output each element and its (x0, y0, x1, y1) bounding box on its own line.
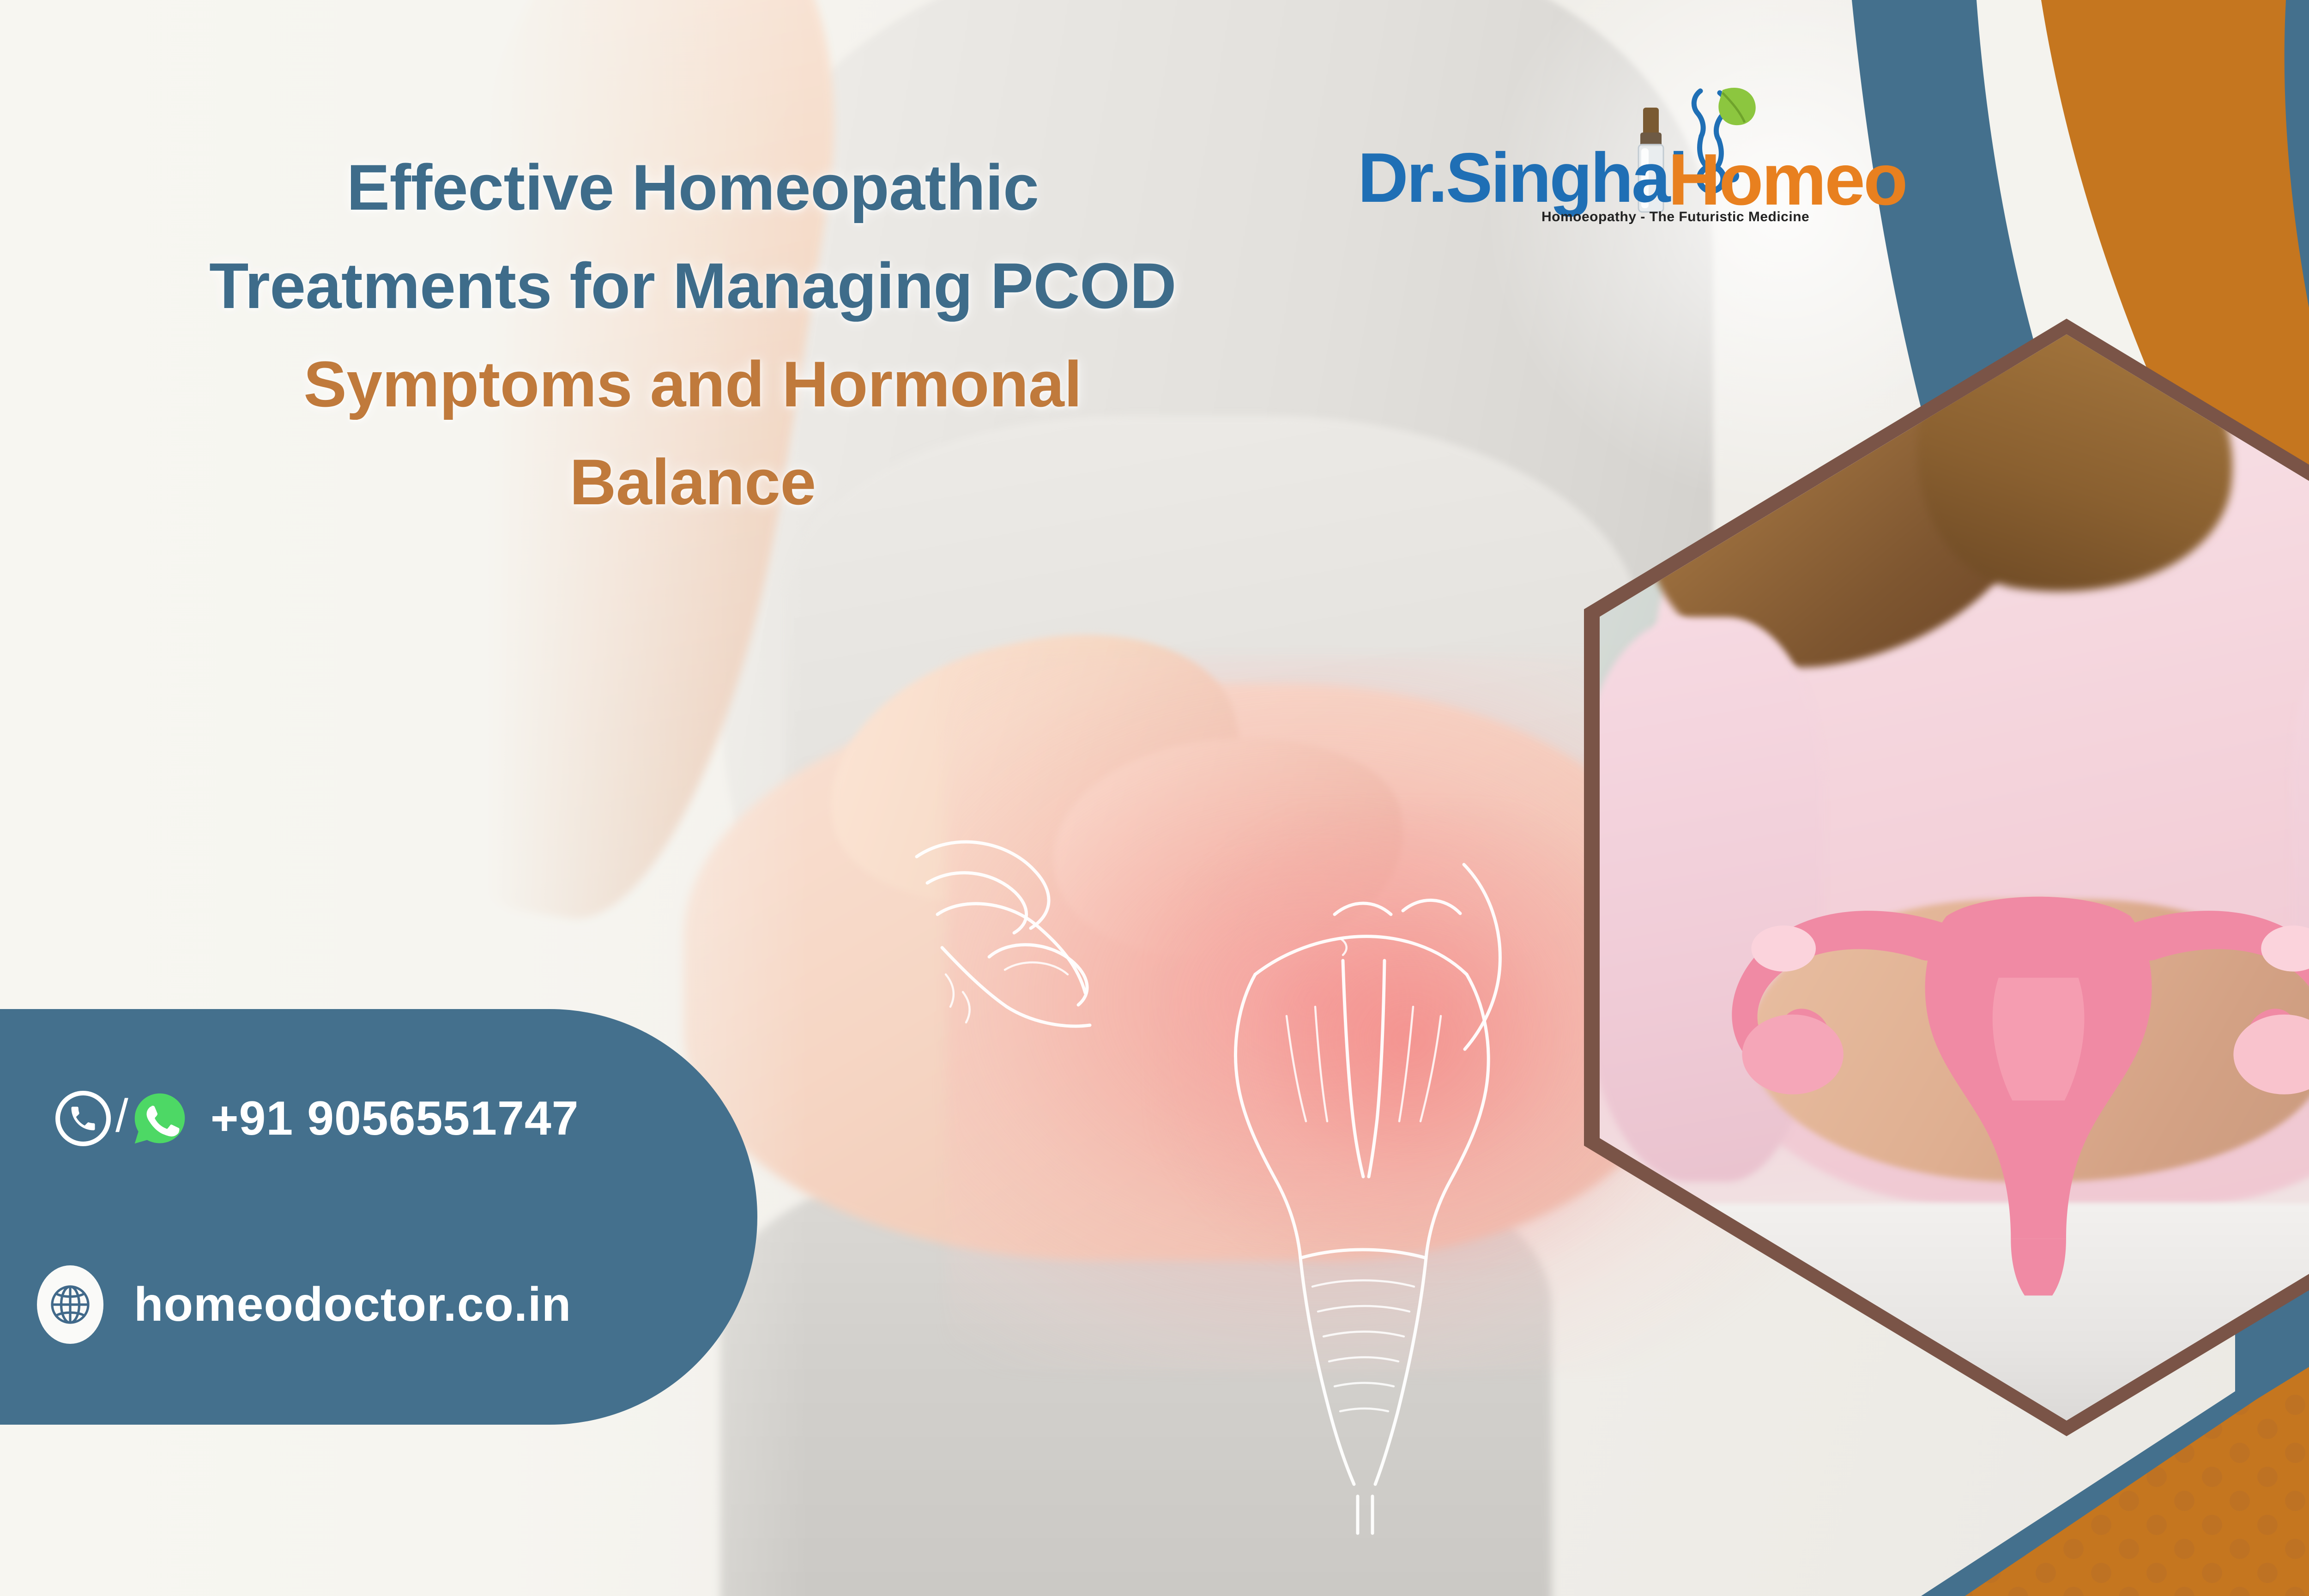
leaf-icon (1718, 88, 1755, 125)
headline-line-2: Treatments for Managing PCOD (69, 237, 1316, 335)
whatsapp-icon[interactable] (131, 1090, 188, 1147)
contact-phone-row[interactable]: / +91 9056551747 (55, 1090, 579, 1147)
logo-name-secondary: Homeo (1668, 139, 1906, 220)
uterus-graphic-icon (1693, 812, 2309, 1312)
uterus-lineart-overlay (868, 776, 1653, 1561)
phone-icon[interactable] (55, 1091, 111, 1146)
headline: Effective Homeopathic Treatments for Man… (69, 139, 1316, 532)
globe-icon[interactable] (37, 1265, 103, 1344)
hexagon-photo-card (1584, 319, 2309, 1436)
contact-website-row[interactable]: homeodoctor.co.in (37, 1265, 571, 1344)
logo-name-primary: Dr.Singhal (1358, 139, 1686, 217)
hexagon-photo (1600, 334, 2309, 1421)
logo-tagline: Homoeopathy - The Futuristic Medicine (1541, 209, 1809, 224)
contact-phone-number[interactable]: +91 9056551747 (211, 1091, 579, 1146)
headline-line-4: Balance (69, 433, 1316, 532)
contact-panel: / +91 9056551747 (0, 1009, 757, 1425)
brand-logo[interactable]: Dr.Singhal Homeo Homoeopathy - The Futur… (1358, 81, 1953, 224)
headline-line-1: Effective Homeopathic (69, 139, 1316, 237)
contact-separator: / (115, 1089, 128, 1143)
banner-canvas: Dr.Singhal Homeo Homoeopathy - The Futur… (0, 0, 2309, 1596)
contact-website-url[interactable]: homeodoctor.co.in (134, 1277, 571, 1332)
headline-line-3: Symptoms and Hormonal (69, 335, 1316, 434)
